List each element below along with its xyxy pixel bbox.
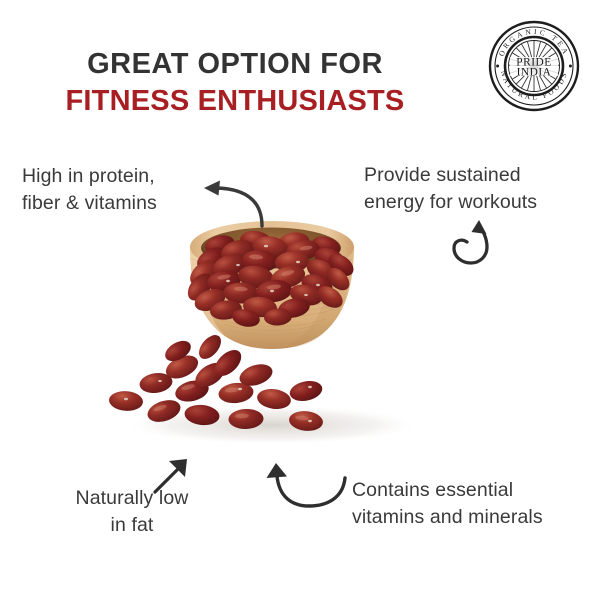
pride-india-logo-icon: ORGANIC TEA NATURAL FOODS PRIDE INDIA bbox=[488, 20, 580, 112]
callout-naturally-low-fat: Naturally low in fat bbox=[58, 485, 206, 538]
logo-center-line-2: INDIA bbox=[517, 66, 552, 78]
callout-sustained-energy-line-1: Provide sustained bbox=[364, 162, 589, 189]
callout-naturally-low-fat-line-1: Naturally low bbox=[58, 485, 206, 512]
callout-high-in-protein-line-2: fiber & vitamins bbox=[22, 190, 227, 217]
pride-india-logo: ORGANIC TEA NATURAL FOODS PRIDE INDIA bbox=[488, 20, 580, 112]
headline-line-1: GREAT OPTION FOR bbox=[0, 48, 470, 80]
headline-block: GREAT OPTION FOR FITNESS ENTHUSIASTS bbox=[0, 48, 470, 118]
callout-sustained-energy-line-2: energy for workouts bbox=[364, 189, 589, 216]
curved-arrow-up-left-icon bbox=[263, 456, 351, 517]
callout-essential-vitamins-minerals-line-1: Contains essential bbox=[352, 477, 588, 504]
callout-high-in-protein-line-1: High in protein, bbox=[22, 163, 227, 190]
product-image-bowl-of-kidney-beans bbox=[60, 215, 480, 455]
callout-essential-vitamins-minerals: Contains essential vitamins and minerals bbox=[352, 477, 588, 530]
callout-high-in-protein: High in protein, fiber & vitamins bbox=[22, 163, 227, 216]
callout-sustained-energy: Provide sustained energy for workouts bbox=[364, 162, 589, 215]
bowl-and-beans-illustration bbox=[60, 215, 480, 455]
headline-line-2: FITNESS ENTHUSIASTS bbox=[0, 85, 470, 117]
infographic-canvas: GREAT OPTION FOR FITNESS ENTHUSIASTS bbox=[0, 0, 600, 600]
callout-naturally-low-fat-line-2: in fat bbox=[58, 512, 206, 539]
callout-essential-vitamins-minerals-line-2: vitamins and minerals bbox=[352, 504, 588, 531]
